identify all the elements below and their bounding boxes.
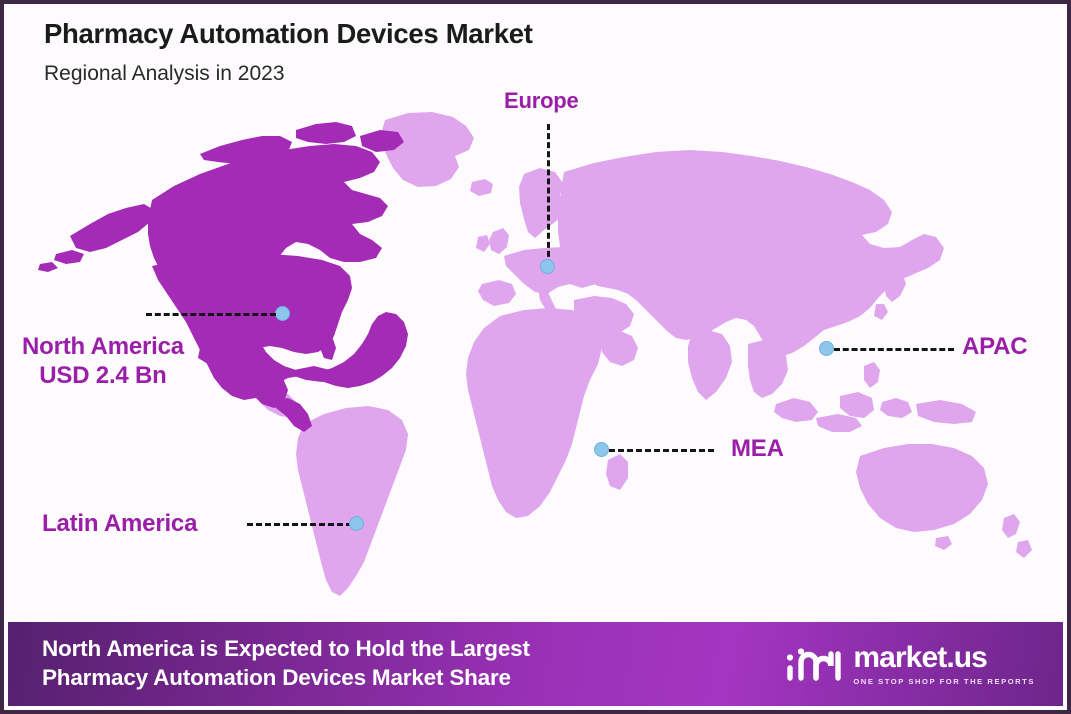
leader-line-europe — [547, 124, 550, 266]
map-marker-north-america[interactable] — [275, 306, 290, 321]
leader-line-north-america — [146, 313, 276, 316]
map-marker-latin-america[interactable] — [349, 516, 364, 531]
page-subtitle: Regional Analysis in 2023 — [44, 62, 533, 86]
header: Pharmacy Automation Devices Market Regio… — [44, 18, 533, 86]
leader-line-mea — [609, 449, 714, 452]
map-marker-mea[interactable] — [594, 442, 609, 457]
map-marker-europe[interactable] — [540, 259, 555, 274]
region-label-europe[interactable]: Europe — [504, 88, 579, 115]
region-value-north-america: USD 2.4 Bn — [22, 361, 184, 390]
region-label-north-america[interactable]: North America USD 2.4 Bn — [22, 332, 184, 391]
region-label-apac[interactable]: APAC — [962, 332, 1027, 361]
market-us-logo-type: market.us ONE STOP SHOP FOR THE REPORTS — [853, 643, 1035, 686]
map-marker-apac[interactable] — [819, 341, 834, 356]
page-title: Pharmacy Automation Devices Market — [44, 18, 533, 50]
infographic-card: Pharmacy Automation Devices Market Regio… — [0, 0, 1071, 714]
market-us-logo-mark — [782, 644, 842, 684]
footer-headline-line1: North America is Expected to Hold the La… — [42, 635, 530, 664]
footer-headline-line2: Pharmacy Automation Devices Market Share — [42, 664, 530, 693]
region-label-latin-america[interactable]: Latin America — [42, 509, 197, 538]
logo-tagline: ONE STOP SHOP FOR THE REPORTS — [853, 678, 1035, 686]
footer-headline: North America is Expected to Hold the La… — [42, 635, 530, 693]
market-us-logo[interactable]: market.us ONE STOP SHOP FOR THE REPORTS — [782, 643, 1041, 686]
leader-line-latin-america — [247, 523, 352, 526]
region-label-mea[interactable]: MEA — [731, 434, 784, 463]
leader-line-apac — [834, 348, 954, 351]
logo-wordmark: market.us — [853, 643, 987, 673]
footer-banner: North America is Expected to Hold the La… — [8, 622, 1063, 706]
region-label-north-america-name: North America — [22, 332, 184, 361]
